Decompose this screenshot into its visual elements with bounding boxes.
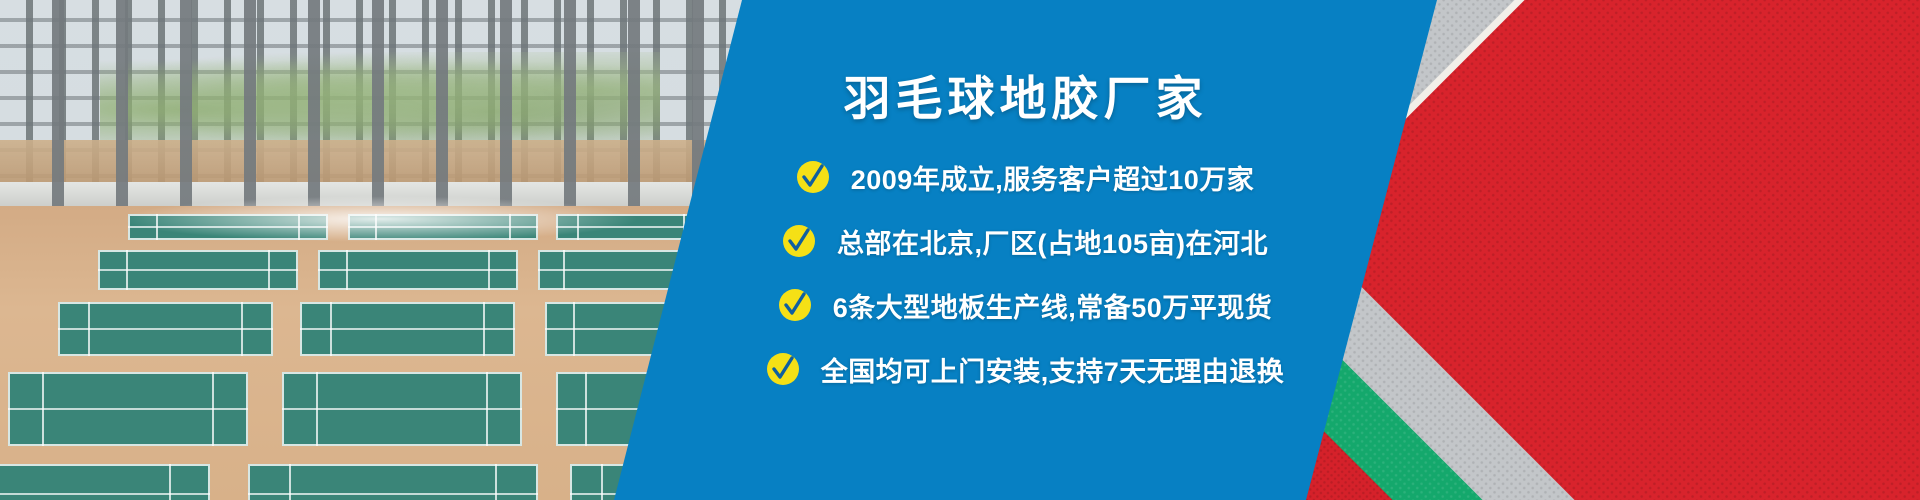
banner-headline: 羽毛球地胶厂家 (614, 60, 1437, 129)
check-circle-icon (767, 353, 799, 385)
selling-point-text: 总部在北京,厂区(占地105亩)在河北 (837, 222, 1268, 261)
check-circle-icon (797, 161, 829, 193)
selling-point-item: 2009年成立,服务客户超过10万家 (614, 145, 1437, 209)
selling-point-text: 6条大型地板生产线,常备50万平现货 (833, 286, 1273, 325)
banner-content: 羽毛球地胶厂家 2009年成立,服务客户超过10万家 总部在北京,厂区(占地10… (614, 0, 1437, 500)
badminton-court (318, 250, 518, 290)
selling-point-item: 全国均可上门安装,支持7天无理由退换 (614, 337, 1437, 401)
selling-point-item: 总部在北京,厂区(占地105亩)在河北 (614, 209, 1437, 273)
badminton-court (300, 302, 515, 356)
check-circle-icon (779, 289, 811, 321)
badminton-court (248, 464, 538, 500)
badminton-court (348, 214, 538, 240)
badminton-court (8, 372, 248, 446)
promo-banner: 羽毛球地胶厂家 2009年成立,服务客户超过10万家 总部在北京,厂区(占地10… (0, 0, 1920, 500)
badminton-court (98, 250, 298, 290)
selling-point-text: 2009年成立,服务客户超过10万家 (851, 158, 1255, 197)
selling-point-text: 全国均可上门安装,支持7天无理由退换 (821, 350, 1285, 389)
selling-point-item: 6条大型地板生产线,常备50万平现货 (614, 273, 1437, 337)
badminton-court (58, 302, 273, 356)
badminton-court (128, 214, 328, 240)
badminton-court (282, 372, 522, 446)
check-circle-icon (783, 225, 815, 257)
selling-points-list: 2009年成立,服务客户超过10万家 总部在北京,厂区(占地105亩)在河北 6… (614, 145, 1437, 401)
badminton-court (0, 464, 210, 500)
